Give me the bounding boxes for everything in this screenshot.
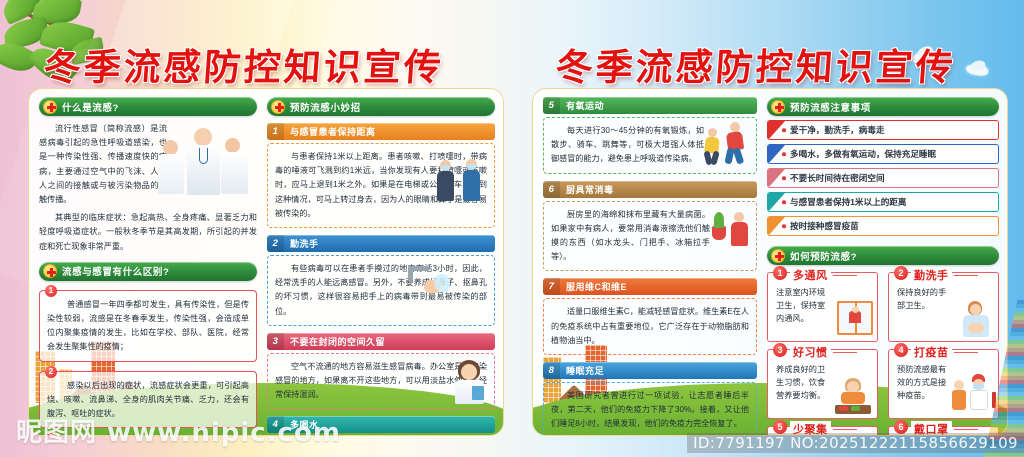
tip-header-6: 6 厨具常消毒 bbox=[543, 181, 757, 198]
cleaning-person-plant-icon bbox=[710, 210, 754, 252]
tip-number: 2 bbox=[267, 235, 284, 252]
tip-title: 勤洗手 bbox=[290, 237, 319, 250]
card-number: 3 bbox=[773, 343, 787, 357]
tip-number: 6 bbox=[543, 181, 560, 198]
prevention-card-1: 1 多通风 注意室内环境卫生，保持室内通风。 bbox=[767, 272, 878, 342]
precaution-text: 多喝水，多做有氧运动，保持充足睡眠 bbox=[790, 148, 936, 160]
precaution-text: 按时接种感冒疫苗 bbox=[790, 220, 859, 232]
prevention-card-2: 2 勤洗手 保持良好的手部卫生。 bbox=[888, 272, 999, 342]
card-number: 6 bbox=[894, 420, 908, 434]
poster-title-left: 冬季流感防控知识宣传 bbox=[42, 37, 446, 91]
poster-canvas: 冬季流感防控知识宣传 冬季流感防控知识宣传 什么是流感? bbox=[0, 0, 1024, 457]
doctor-head-icon bbox=[194, 128, 212, 146]
tip-body-6: 厨房里的海绵和抹布里藏有大量病菌。如果家中有病人，要常用消毒液擦洗他们触摸的东西… bbox=[543, 201, 757, 272]
card-number: 1 bbox=[773, 266, 787, 280]
right-panel: 5 有氧运动 每天进行30～45分钟的有氧锻炼，如散步、骑车、跳舞等，可 bbox=[532, 88, 1008, 436]
medical-cross-icon bbox=[771, 100, 785, 114]
tip-body-5: 每天进行30～45分钟的有氧锻炼，如散步、骑车、跳舞等，可极大增强人体抵御感冒的… bbox=[543, 117, 757, 174]
doctor-body-icon bbox=[158, 154, 184, 194]
tip-title: 不要在封闭的空间久留 bbox=[290, 335, 385, 348]
medical-cross-icon bbox=[271, 100, 285, 114]
card-number: 5 bbox=[773, 420, 787, 434]
section-header-label: 预防流感注意事项 bbox=[790, 100, 871, 114]
tip-header-8: 8 睡眠充足 bbox=[543, 362, 757, 379]
item-number: 2 bbox=[45, 366, 57, 378]
section-header-flu-vs-cold: 流感与感冒有什么区别? bbox=[39, 262, 257, 281]
tip-title: 厨具常消毒 bbox=[566, 183, 614, 196]
tip-text: 厨房里的海绵和抹布里藏有大量病菌。如果家中有病人，要常用消毒液擦洗他们触摸的东西… bbox=[551, 208, 710, 265]
card-title: 好习惯 bbox=[790, 344, 831, 360]
medical-cross-icon bbox=[43, 264, 57, 278]
bullet-dot-icon bbox=[782, 200, 786, 204]
section-header-label: 流感与感冒有什么区别? bbox=[62, 264, 169, 278]
tip-text: 美国研究者曾进行过一项试验，让志愿者睡后半夜，第二天，他们的免疫力下降了30%。… bbox=[551, 389, 749, 432]
tip-text: 每天进行30～45分钟的有氧锻炼，如散步、骑车、跳舞等，可极大增强人体抵御感冒的… bbox=[551, 124, 704, 167]
tip-title: 与感冒患者保持距离 bbox=[290, 125, 376, 138]
dove-icon bbox=[965, 64, 988, 77]
tip-body-2: 有些病毒可以在患者手摸过的地方存活3小时，因此，经常洗手的人能远离感冒。另外，不… bbox=[267, 255, 495, 326]
doctor-head-icon bbox=[163, 140, 178, 155]
tip-header-1: 1 与感冒患者保持距离 bbox=[267, 123, 495, 140]
tip-header-2: 2 勤洗手 bbox=[267, 235, 495, 252]
section-header-prevention-tips: 预防流感小妙招 bbox=[267, 97, 495, 116]
precaution-text: 爱干净，勤洗手，病毒走 bbox=[790, 124, 885, 136]
doctor-body-icon bbox=[221, 152, 248, 194]
site-watermark: 昵图网 www.nipic.com bbox=[16, 412, 341, 449]
card-title: 打疫苗 bbox=[911, 344, 952, 360]
card-number: 2 bbox=[894, 266, 908, 280]
prevention-card-grid: 1 多通风 注意室内环境卫生，保持室内通风。 2 勤洗手 保持良好的手部卫生。 bbox=[767, 272, 999, 436]
card-title: 多通风 bbox=[790, 267, 831, 283]
card-text: 注意室内环境卫生，保持室内通风。 bbox=[776, 286, 831, 325]
card-title: 勤洗手 bbox=[911, 267, 952, 283]
tip-body-3: 空气不流通的地方容易滋生感冒病毒。办公室是易传染感冒的地方，如果离不开这些地方，… bbox=[267, 353, 495, 410]
doctor-head-icon bbox=[225, 138, 240, 153]
tip-header-5: 5 有氧运动 bbox=[543, 97, 757, 114]
item-text: 普通感冒一年四季都可发生，具有传染性，但是传染性较弱，流感是在冬春季发生，传染性… bbox=[47, 298, 249, 355]
tip-number: 5 bbox=[543, 97, 560, 114]
bullet-dot-icon bbox=[782, 152, 786, 156]
precaution-text: 不要长时间待在密闭空间 bbox=[790, 172, 885, 184]
item-number: 1 bbox=[45, 285, 57, 297]
section-header-label: 什么是流感? bbox=[62, 100, 119, 114]
tip-body-1: 与患者保持1米以上距离。患者咳嗽、打喷嚏时，带病毒的唾液可飞溅到约1米远，当你发… bbox=[267, 143, 495, 228]
stethoscope-icon bbox=[199, 148, 208, 164]
precaution-text: 与感冒患者保持1米以上的距离 bbox=[790, 196, 907, 208]
medical-cross-icon bbox=[771, 249, 785, 263]
balanced-meal-icon bbox=[833, 378, 873, 414]
tip-title: 服用维C和维E bbox=[566, 280, 627, 293]
bullet-dot-icon bbox=[782, 128, 786, 132]
difference-item: 1 普通感冒一年四季都可发生，具有传染性，但是传染性较弱，流感是在冬春季发生，传… bbox=[39, 290, 257, 362]
washing-hands-icon bbox=[958, 301, 994, 337]
precaution-row: 不要长时间待在密闭空间 bbox=[767, 168, 999, 188]
tip-text: 与患者保持1米以上距离。患者咳嗽、打喷嚏时，带病毒的唾液可飞溅到约1米远，当你发… bbox=[275, 150, 487, 221]
section-header-label: 预防流感小妙招 bbox=[290, 100, 361, 114]
tip-header-7: 7 服用维C和维E bbox=[543, 278, 757, 295]
medical-cross-icon bbox=[43, 100, 57, 114]
bullet-dot-icon bbox=[782, 176, 786, 180]
tip-body-7: 适量口服维生素C，能减轻感冒症状。维生素E在人的免疫系统中占有重要地位，它广泛存… bbox=[543, 298, 757, 355]
tip-text: 空气不流通的地方容易滋生感冒病毒。办公室是易传染感冒的地方，如果离不开这些地方，… bbox=[275, 360, 487, 403]
running-people-icon bbox=[704, 122, 754, 166]
doctors-illustration bbox=[161, 124, 253, 196]
card-number: 4 bbox=[894, 343, 908, 357]
section-header-what-is-flu: 什么是流感? bbox=[39, 97, 257, 116]
section-header-label: 如何预防流感? bbox=[790, 249, 857, 263]
precaution-row: 爱干净，勤洗手，病毒走 bbox=[767, 120, 999, 140]
tip-number: 1 bbox=[267, 123, 284, 140]
tip-title: 睡眠充足 bbox=[566, 364, 604, 377]
tip-title: 有氧运动 bbox=[566, 99, 604, 112]
vaccination-icon bbox=[952, 374, 996, 414]
tip-text: 有些病毒可以在患者手摸过的地方存活3小时，因此，经常洗手的人能远离感冒。另外，不… bbox=[275, 262, 487, 319]
bullet-dot-icon bbox=[782, 224, 786, 228]
tip-number: 8 bbox=[543, 362, 560, 379]
flu-definition-paragraph: 流行性感冒（简称流感）是流感病毒引起的急性呼吸道感染，也是一种传染性强、传播速度… bbox=[39, 122, 167, 207]
tip-text: 适量口服维生素C，能减轻感冒症状。维生素E在人的免疫系统中占有重要地位，它广泛存… bbox=[551, 305, 749, 348]
precaution-row: 与感冒患者保持1米以上的距离 bbox=[767, 192, 999, 212]
flu-symptoms-paragraph: 其典型的临床症状：急起高热、全身疼痛、显著乏力和轻度呼吸道症状。一般秋冬季节是其… bbox=[39, 211, 257, 254]
prevention-card-4: 4 打疫苗 预防流感最有效的方式是接种疫苗。 bbox=[888, 349, 999, 419]
tip-header-3: 3 不要在封闭的空间久留 bbox=[267, 333, 495, 350]
poster-title-right: 冬季流感防控知识宣传 bbox=[554, 37, 958, 91]
tip-number: 7 bbox=[543, 278, 560, 295]
prevention-card-3: 3 好习惯 养成良好的卫生习惯，饮食营养要均衡。 bbox=[767, 349, 878, 419]
open-window-icon bbox=[837, 301, 873, 335]
card-text: 养成良好的卫生习惯，饮食营养要均衡。 bbox=[776, 363, 831, 402]
section-header-precautions: 预防流感注意事项 bbox=[767, 97, 999, 116]
left-panel: 什么是流感? 流行性感冒（简称流感）是流感病毒引起的急性呼吸道感染，也是一种传染… bbox=[28, 88, 504, 436]
image-id-strip: ID:7791197 NO:20251222115856629109 bbox=[687, 433, 1024, 453]
tip-number: 3 bbox=[267, 333, 284, 350]
precaution-row: 多喝水，多做有氧运动，保持充足睡眠 bbox=[767, 144, 999, 164]
section-header-how-to-prevent: 如何预防流感? bbox=[767, 246, 999, 265]
card-text: 保持良好的手部卫生。 bbox=[897, 286, 952, 312]
tip-body-8: 美国研究者曾进行过一项试验，让志愿者睡后半夜，第二天，他们的免疫力下降了30%。… bbox=[543, 382, 757, 436]
card-text: 预防流感最有效的方式是接种疫苗。 bbox=[897, 363, 952, 402]
precaution-row: 按时接种感冒疫苗 bbox=[767, 216, 999, 236]
